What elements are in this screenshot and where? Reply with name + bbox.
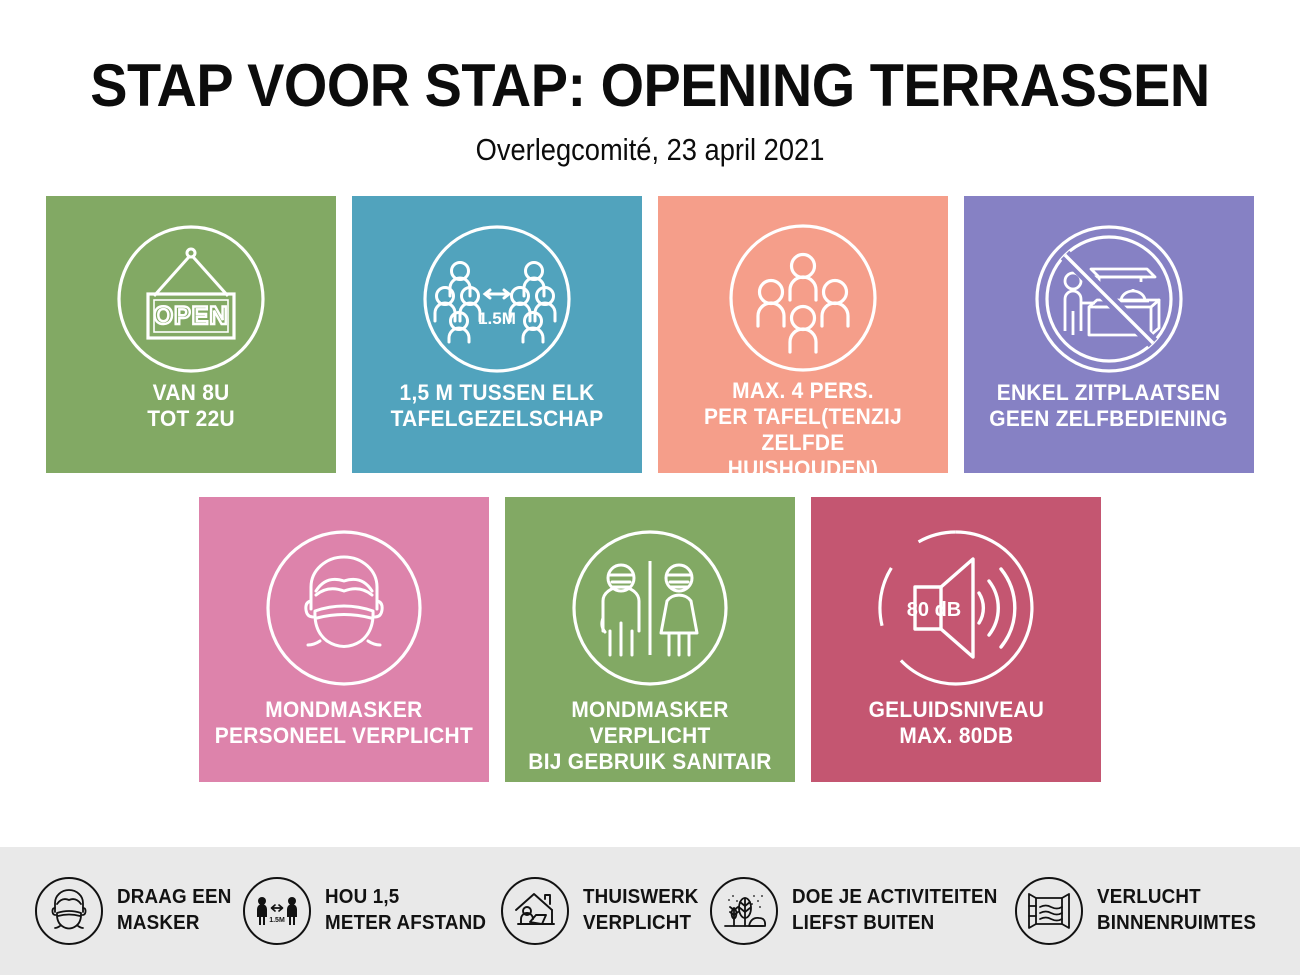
card-caption: MONDMASKER VERPLICHT BIJ GEBRUIK SANITAI… bbox=[512, 697, 788, 775]
card-grid: OPEN VAN 8U TOT 22U bbox=[0, 168, 1300, 847]
footer-item-outdoor-activities: DOE JE ACTIVITEITEN LIEFST BUITEN bbox=[709, 876, 1011, 946]
infographic-page: STAP VOOR STAP: OPENING TERRASSEN Overle… bbox=[0, 0, 1300, 975]
card-no-self-service: ENKEL ZITPLAATSEN GEEN ZELFBEDIENING bbox=[964, 196, 1254, 473]
restroom-masked-icon bbox=[565, 523, 735, 693]
svg-text:OPEN: OPEN bbox=[154, 302, 229, 330]
distance-two-people-icon: 1.5M bbox=[242, 876, 312, 946]
ventilate-window-icon bbox=[1014, 876, 1084, 946]
icon-wrap: 80 dB bbox=[871, 519, 1041, 697]
footer-item-keep-distance: 1.5M HOU 1,5 METER AFSTAND bbox=[242, 876, 496, 946]
card-caption: 1,5 M TUSSEN ELK TAFELGEZELSCHAP bbox=[385, 380, 609, 432]
card-row-1: OPEN VAN 8U TOT 22U bbox=[0, 196, 1300, 473]
footer-item-wear-mask: DRAAG EEN MASKER bbox=[34, 876, 239, 946]
home-work-icon bbox=[500, 876, 570, 946]
card-max-four-persons: MAX. 4 PERS. PER TAFEL(TENZIJ ZELFDE HUI… bbox=[658, 196, 948, 473]
card-distance-between-tables: 1.5M 1,5 M TUSSEN ELK TAFELGEZELSCHAP bbox=[352, 196, 642, 473]
footer-item-ventilate: VERLUCHT BINNENRUIMTES bbox=[1014, 876, 1266, 946]
face-mask-icon bbox=[259, 523, 429, 693]
distance-groups-icon: 1.5M bbox=[417, 219, 577, 379]
icon-distance-label: 1.5M bbox=[478, 309, 516, 328]
icon-wrap bbox=[565, 519, 735, 697]
footer-item-label: THUISWERK VERPLICHT bbox=[583, 885, 699, 936]
header: STAP VOOR STAP: OPENING TERRASSEN Overle… bbox=[0, 0, 1300, 168]
card-mask-staff: MONDMASKER PERSONEEL VERPLICHT bbox=[199, 497, 489, 782]
mask-face-icon bbox=[34, 876, 104, 946]
icon-db-label: 80 dB bbox=[907, 599, 961, 621]
outdoors-trees-icon bbox=[709, 876, 779, 946]
page-title: STAP VOOR STAP: OPENING TERRASSEN bbox=[46, 56, 1255, 116]
card-caption: VAN 8U TOT 22U bbox=[142, 380, 241, 432]
icon-wrap bbox=[723, 218, 883, 378]
icon-wrap bbox=[1029, 218, 1189, 380]
footer-item-label: VERLUCHT BINNENRUIMTES bbox=[1097, 885, 1256, 936]
open-sign-icon: OPEN bbox=[111, 219, 271, 379]
card-row-2: MONDMASKER PERSONEEL VERPLICHT bbox=[0, 497, 1300, 782]
four-persons-icon bbox=[723, 218, 883, 378]
card-sound-level: 80 dB GELUIDSNIVEAU MAX. 80DB bbox=[811, 497, 1101, 782]
card-caption: GELUIDSNIVEAU MAX. 80DB bbox=[863, 697, 1050, 749]
footer-item-work-from-home: THUISWERK VERPLICHT bbox=[500, 876, 706, 946]
footer-item-label: HOU 1,5 METER AFSTAND bbox=[325, 885, 486, 936]
icon-distance-label: 1.5M bbox=[269, 917, 285, 924]
no-buffet-self-service-icon bbox=[1029, 219, 1189, 379]
card-mask-restroom: MONDMASKER VERPLICHT BIJ GEBRUIK SANITAI… bbox=[505, 497, 795, 782]
card-opening-hours: OPEN VAN 8U TOT 22U bbox=[46, 196, 336, 473]
footer-item-label: DRAAG EEN MASKER bbox=[117, 885, 232, 936]
card-caption: MAX. 4 PERS. PER TAFEL(TENZIJ ZELFDE HUI… bbox=[665, 378, 941, 482]
icon-wrap: 1.5M bbox=[417, 218, 577, 380]
footer-measures-bar: DRAAG EEN MASKER 1.5M HOU 1,5 METER AFS bbox=[0, 847, 1300, 975]
icon-wrap bbox=[259, 519, 429, 697]
card-caption: MONDMASKER PERSONEEL VERPLICHT bbox=[209, 697, 479, 749]
footer-item-label: DOE JE ACTIVITEITEN LIEFST BUITEN bbox=[792, 885, 998, 936]
page-subtitle: Overlegcomité, 23 april 2021 bbox=[78, 132, 1222, 168]
icon-wrap: OPEN bbox=[111, 218, 271, 380]
loudspeaker-icon: 80 dB bbox=[871, 523, 1041, 693]
card-caption: ENKEL ZITPLAATSEN GEEN ZELFBEDIENING bbox=[984, 380, 1234, 432]
